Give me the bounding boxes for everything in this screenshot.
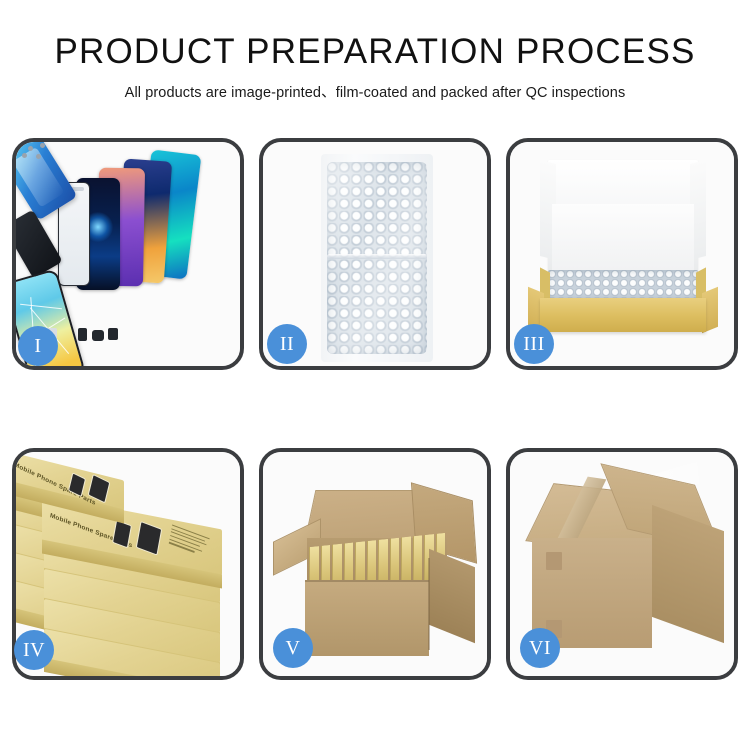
carton-front-panel bbox=[305, 580, 429, 656]
process-step-card-5: V bbox=[259, 448, 491, 680]
lcd-panel-dark bbox=[16, 210, 63, 279]
small-part-3 bbox=[108, 328, 118, 340]
step-badge-2: II bbox=[267, 324, 307, 364]
foam-insert bbox=[552, 204, 694, 270]
carton-tab-upper bbox=[546, 552, 562, 570]
bubble-wrapped-contents bbox=[548, 270, 698, 300]
carton-right-panel bbox=[429, 549, 475, 644]
sealed-carton-side bbox=[652, 505, 724, 643]
process-step-card-1: I bbox=[12, 138, 244, 370]
process-step-card-2: II bbox=[259, 138, 491, 370]
mailer-front-panel bbox=[540, 298, 706, 332]
process-step-card-6: VI bbox=[506, 448, 738, 680]
page-subtitle: All products are image-printed、film-coat… bbox=[0, 81, 750, 102]
step-badge-4: IV bbox=[14, 630, 54, 670]
small-part-1 bbox=[78, 328, 87, 341]
process-step-card-4: Mobile Phone Spare Parts bbox=[12, 448, 244, 680]
step-badge-3: III bbox=[514, 324, 554, 364]
product-preparation-infographic: PRODUCT PREPARATION PROCESS All products… bbox=[0, 0, 750, 750]
step-badge-6: VI bbox=[520, 628, 560, 668]
process-step-card-3: III bbox=[506, 138, 738, 370]
carton-edge-corner bbox=[428, 558, 430, 650]
process-step-grid: I II III bbox=[12, 138, 738, 683]
step-badge-1: I bbox=[18, 326, 58, 366]
pouch-seam bbox=[327, 254, 427, 259]
small-part-2 bbox=[92, 330, 104, 341]
step-badge-5: V bbox=[273, 628, 313, 668]
page-title: PRODUCT PREPARATION PROCESS bbox=[0, 34, 750, 71]
header: PRODUCT PREPARATION PROCESS All products… bbox=[0, 0, 750, 102]
carton-edge-top bbox=[305, 580, 429, 582]
